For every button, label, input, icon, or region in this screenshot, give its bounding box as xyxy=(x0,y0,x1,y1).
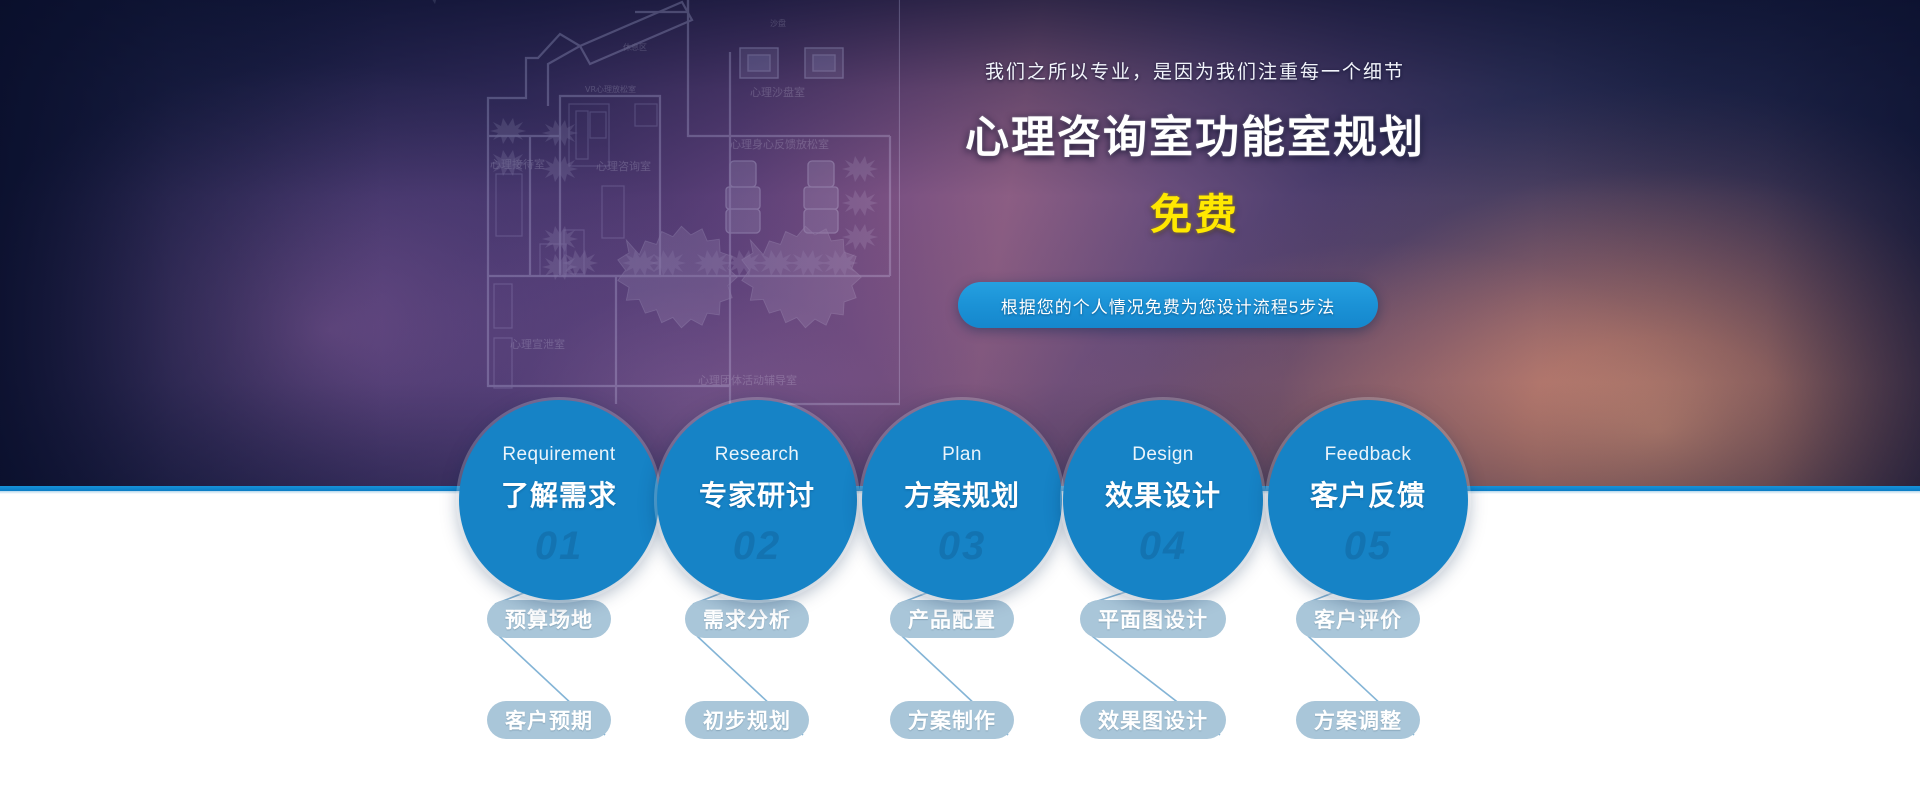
step-number: 01 xyxy=(535,526,584,566)
sub-label-pill[interactable]: 客户评价 xyxy=(1296,600,1420,638)
sub-label-pill-text: 客户评价 xyxy=(1314,604,1402,634)
sub-label-pill[interactable]: 产品配置 xyxy=(890,600,1014,638)
step-label-cn: 客户反馈 xyxy=(1310,474,1426,514)
step-number: 05 xyxy=(1344,526,1393,566)
sub-label-pill[interactable]: 效果图设计 xyxy=(1080,701,1226,739)
sub-label-pill-text: 客户预期 xyxy=(505,705,593,735)
step-label-cn: 效果设计 xyxy=(1105,474,1221,514)
sub-label-pill[interactable]: 初步规划 xyxy=(685,701,809,739)
step-label-en: Plan xyxy=(942,444,982,466)
step-label-cn: 方案规划 xyxy=(904,474,1020,514)
step-label-cn: 专家研讨 xyxy=(699,474,815,514)
sub-label-pill[interactable]: 方案制作 xyxy=(890,701,1014,739)
sub-label-pill[interactable]: 方案调整 xyxy=(1296,701,1420,739)
hero-banner: 心理接待室 心理咨询室 心理沙盘室 心理身心反馈放松室 心理宣泄室 心理团体活动… xyxy=(0,0,1920,810)
sub-label-pill-text: 预算场地 xyxy=(505,604,593,634)
page-title: 心理咨询室功能室规划 xyxy=(965,101,1425,165)
step-label-en: Design xyxy=(1132,444,1194,466)
step-number: 02 xyxy=(733,526,782,566)
sub-label-pill-text: 初步规划 xyxy=(703,705,791,735)
cta-button-label: 根据您的个人情况免费为您设计流程5步法 xyxy=(1001,293,1335,318)
headline-block: 我们之所以专业，是因为我们注重每一个细节 心理咨询室功能室规划 免费 xyxy=(965,60,1425,242)
sub-label-pill-text: 效果图设计 xyxy=(1098,705,1208,735)
step-label-cn: 了解需求 xyxy=(501,474,617,514)
process-step-circle-02[interactable]: Research专家研讨02 xyxy=(657,400,857,600)
sub-label-pill-text: 方案调整 xyxy=(1314,705,1402,735)
step-number: 03 xyxy=(938,526,987,566)
free-badge: 免费 xyxy=(965,181,1425,242)
sub-label-pill[interactable]: 平面图设计 xyxy=(1080,600,1226,638)
cta-button[interactable]: 根据您的个人情况免费为您设计流程5步法 xyxy=(958,282,1378,328)
process-step-circle-05[interactable]: Feedback客户反馈05 xyxy=(1268,400,1468,600)
sub-label-pill[interactable]: 需求分析 xyxy=(685,600,809,638)
hero-subtitle: 我们之所以专业，是因为我们注重每一个细节 xyxy=(965,60,1425,87)
step-label-en: Requirement xyxy=(502,444,615,466)
sub-label-pill-text: 方案制作 xyxy=(908,705,996,735)
sub-label-pill[interactable]: 预算场地 xyxy=(487,600,611,638)
step-label-en: Feedback xyxy=(1325,444,1412,466)
sub-label-pill-text: 需求分析 xyxy=(703,604,791,634)
sub-label-pill[interactable]: 客户预期 xyxy=(487,701,611,739)
process-step-circle-01[interactable]: Requirement了解需求01 xyxy=(459,400,659,600)
sub-label-pill-text: 平面图设计 xyxy=(1098,604,1208,634)
sub-label-pill-text: 产品配置 xyxy=(908,604,996,634)
step-label-en: Research xyxy=(715,444,800,466)
process-step-circle-03[interactable]: Plan方案规划03 xyxy=(862,400,1062,600)
process-step-circle-04[interactable]: Design效果设计04 xyxy=(1063,400,1263,600)
step-number: 04 xyxy=(1139,526,1188,566)
